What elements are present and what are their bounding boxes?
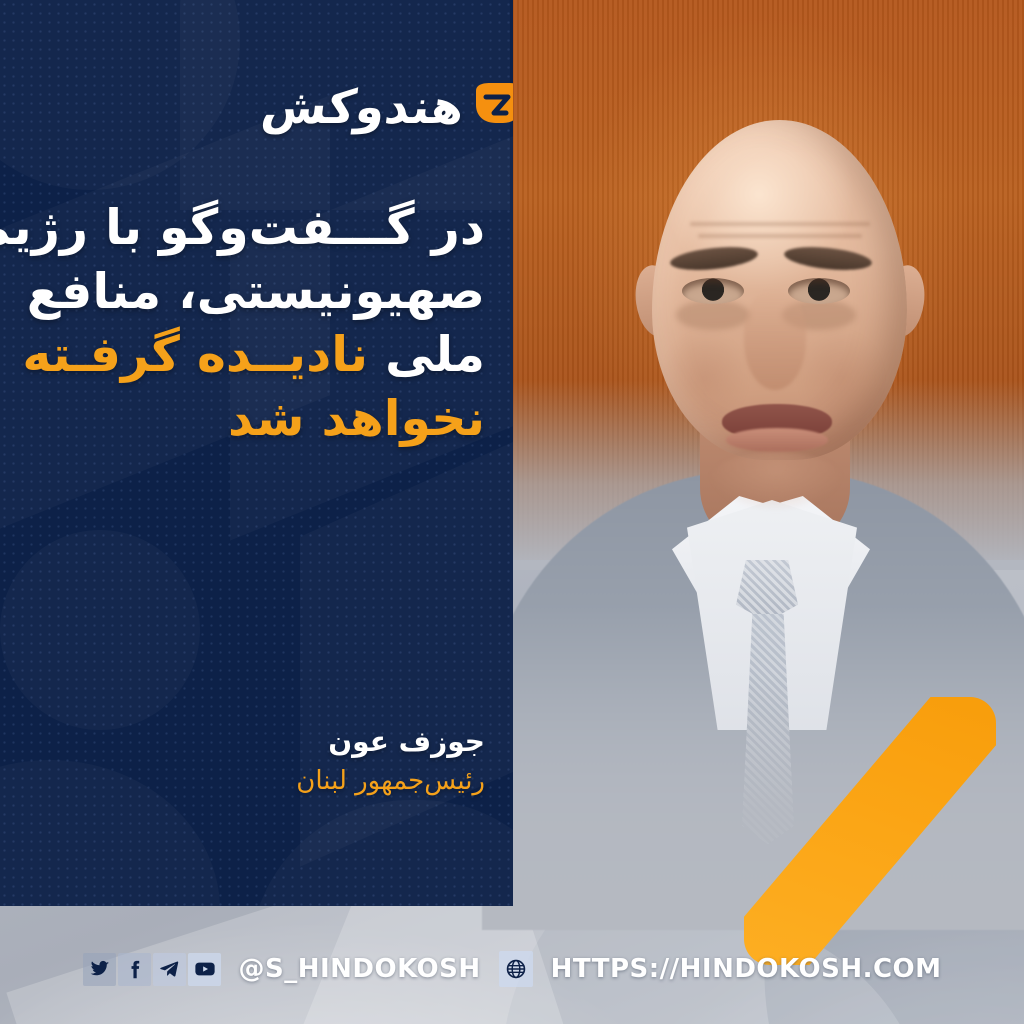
globe-icon [499,951,533,987]
speaker-name: جوزف عون [23,722,485,763]
headline: در گـــفت‌وگو با رژیم صهیونیستی، منافع م… [23,196,485,451]
headline-line-4: نخواهد شد [23,387,485,451]
hindokosh-mark-icon [470,81,513,133]
social-handle[interactable]: @S_HINDOKOSH [238,954,480,984]
eye-right [788,278,850,304]
under-eye-shadow [676,300,750,330]
twitter-icon[interactable] [83,953,116,986]
site-logo[interactable]: هندوکش [262,70,488,144]
headline-line-3-orange: نادیــده گرفـته [22,326,368,383]
footer-bar: @S_HINDOKOSH HTTPS://HINDOKOSH.COM [0,914,1024,1024]
headline-line-1: در گـــفت‌وگو با رژیم [23,196,485,260]
speaker-role: رئیس‌جمهور لبنان [23,763,485,801]
headline-line-2: صهیونیستی، منافع [23,260,485,324]
quote-panel: هندوکش در گـــفت‌وگو با رژیم صهیونیستی، … [0,0,513,906]
eye-left [682,278,744,304]
telegram-icon[interactable] [153,953,186,986]
news-quote-card: هندوکش در گـــفت‌وگو با رژیم صهیونیستی، … [0,0,1024,1024]
headline-line-3-white: ملی [368,326,485,383]
forehead-crease [690,222,870,226]
attribution: جوزف عون رئیس‌جمهور لبنان [23,722,485,800]
headline-line-3: ملی نادیــده گرفـته [23,323,485,387]
chin [708,452,844,512]
website-url[interactable]: HTTPS://HINDOKOSH.COM [551,954,942,984]
logo-wordmark: هندوکش [259,84,467,131]
forehead-crease [698,234,862,238]
lower-lip [726,428,828,452]
nose [744,292,806,390]
youtube-icon[interactable] [188,953,221,986]
facebook-icon[interactable] [118,953,151,986]
social-links [82,953,222,986]
